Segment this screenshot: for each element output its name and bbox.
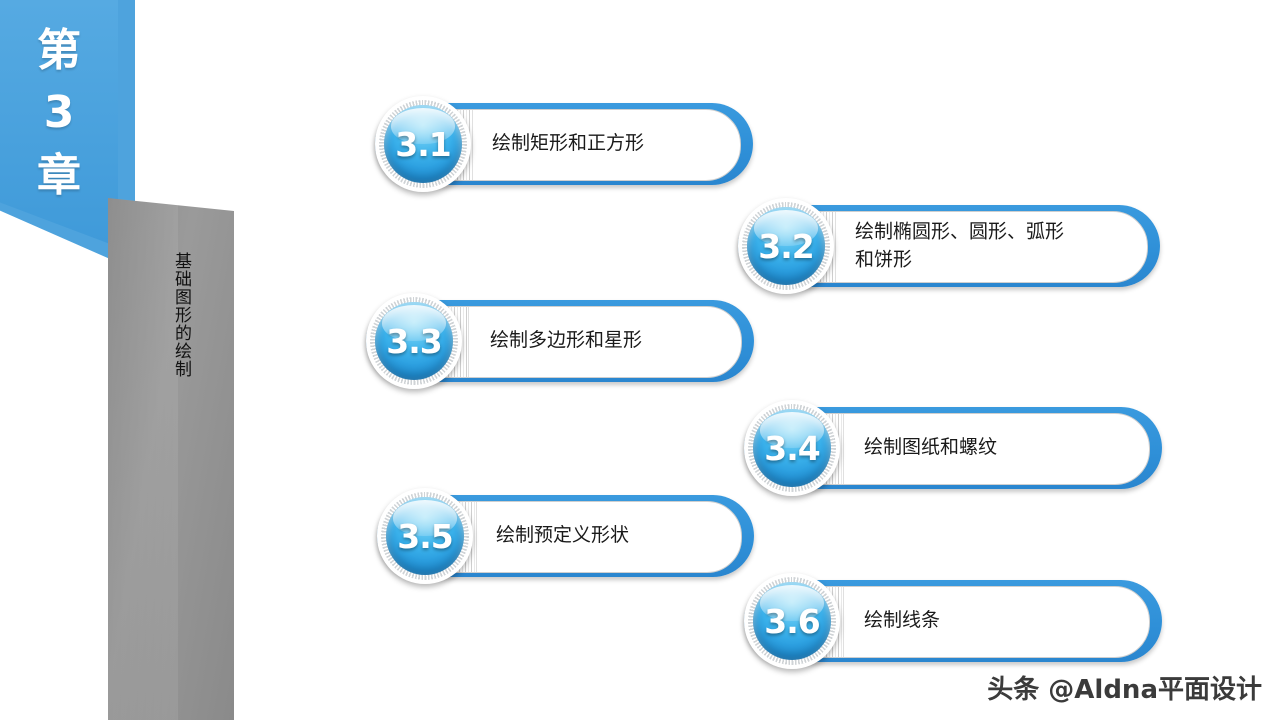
list-item[interactable]: 绘制多边形和星形 3.3	[366, 293, 754, 389]
list-item-label: 绘制多边形和星形	[490, 327, 740, 355]
chapter-label-line-2: 3	[28, 82, 90, 144]
list-item-badge: 3.5	[377, 488, 473, 584]
list-item-label: 绘制椭圆形、圆形、弧形 和饼形	[855, 218, 1150, 273]
badge-number: 3.5	[377, 488, 473, 584]
badge-number: 3.6	[744, 573, 840, 669]
list-item[interactable]: 绘制椭圆形、圆形、弧形 和饼形 3.2	[738, 198, 1160, 294]
list-item-label: 绘制矩形和正方形	[492, 130, 742, 158]
badge-number: 3.2	[738, 198, 834, 294]
chapter-title: 基础图形的绘制	[163, 252, 193, 378]
badge-number: 3.3	[366, 293, 462, 389]
list-item-badge: 3.4	[744, 400, 840, 496]
chapter-label-line-3: 章	[28, 145, 90, 207]
badge-number: 3.4	[744, 400, 840, 496]
list-item-badge: 3.6	[744, 573, 840, 669]
list-item[interactable]: 绘制矩形和正方形 3.1	[375, 96, 753, 192]
chapter-label: 第 3 章	[28, 20, 90, 207]
list-item-label: 绘制线条	[864, 607, 1124, 635]
list-item-badge: 3.1	[375, 96, 471, 192]
badge-number: 3.1	[375, 96, 471, 192]
list-item-badge: 3.3	[366, 293, 462, 389]
list-item[interactable]: 绘制图纸和螺纹 3.4	[744, 400, 1162, 496]
watermark: 头条 @Aldna平面设计	[987, 669, 1262, 706]
chapter-label-line-1: 第	[28, 20, 90, 82]
list-item-badge: 3.2	[738, 198, 834, 294]
list-item[interactable]: 绘制预定义形状 3.5	[377, 488, 754, 584]
list-item-label: 绘制图纸和螺纹	[864, 434, 1144, 462]
list-item[interactable]: 绘制线条 3.6	[744, 573, 1162, 669]
list-item-label: 绘制预定义形状	[496, 522, 736, 550]
